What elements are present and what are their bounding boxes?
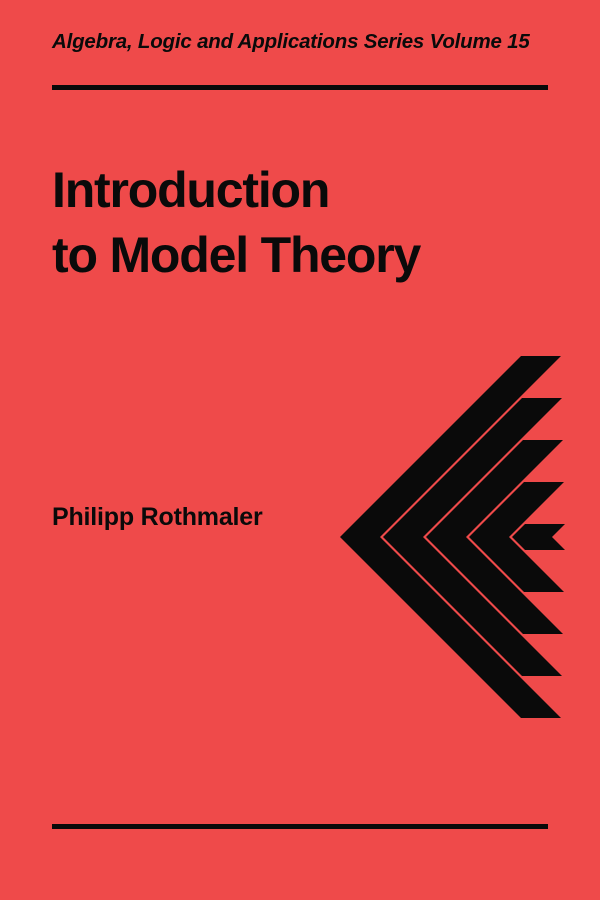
series-label: Algebra, Logic and Applications Series V… bbox=[52, 30, 552, 54]
bottom-divider-rule bbox=[52, 824, 548, 829]
book-cover: Algebra, Logic and Applications Series V… bbox=[0, 0, 600, 900]
chevron-4 bbox=[469, 482, 564, 592]
chevron-3 bbox=[426, 440, 563, 634]
author-name: Philipp Rothmaler bbox=[52, 503, 263, 532]
chevron-5 bbox=[512, 524, 565, 550]
chevron-2 bbox=[383, 398, 562, 676]
title-line-2: to Model Theory bbox=[52, 223, 512, 288]
top-divider-rule bbox=[52, 85, 548, 90]
nested-chevrons-graphic bbox=[0, 0, 600, 900]
chevron-1 bbox=[340, 356, 561, 718]
book-title: Introduction to Model Theory bbox=[52, 158, 512, 288]
title-line-1: Introduction bbox=[52, 158, 512, 223]
chevron-group bbox=[340, 356, 565, 718]
